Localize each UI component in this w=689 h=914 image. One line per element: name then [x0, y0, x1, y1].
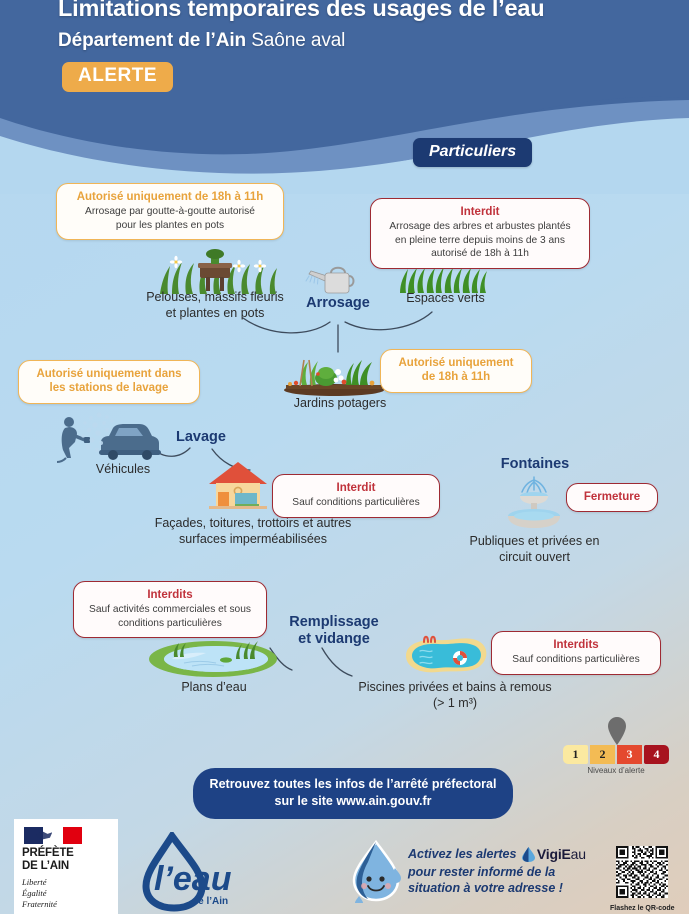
french-flag-icon	[24, 827, 82, 844]
page-subtitle: Département de l’Ain Saône aval	[58, 30, 689, 52]
leau-de-lain-logo: l’eau de l’Ain	[128, 832, 238, 914]
alert-level-1: 1	[563, 745, 588, 764]
infographic-page: Limitations temporaires des usages de l’…	[0, 0, 689, 914]
category-fontaines: Fontaines	[482, 456, 588, 473]
callout-body: Sauf conditions particulières	[285, 496, 427, 509]
info-banner-line2: sur le site www.ain.gouv.fr	[275, 794, 432, 808]
label-vehicules: Véhicules	[68, 461, 178, 477]
callout-piscines: Interdits Sauf conditions particulières	[491, 631, 661, 675]
vigieau-text: Activez les alertes VigiEau pour rester …	[408, 845, 586, 898]
vigieau-brand-bold: VigiE	[537, 846, 571, 862]
callout-title: Interdit	[383, 205, 577, 219]
eau-logo-main: l’eau	[154, 860, 232, 898]
page-title: Limitations temporaires des usages de l’…	[58, 0, 689, 21]
callout-vehicules: Autorisé uniquement dans les stations de…	[18, 360, 200, 404]
vigieau-brand: VigiEau	[520, 845, 586, 864]
category-arrosage: Arrosage	[288, 295, 388, 312]
audience-badge: Particuliers	[413, 138, 532, 167]
label-fontaines: Publiques et privées en circuit ouvert	[452, 533, 617, 565]
callout-arrosage-pots: Autorisé uniquement de 18h à 11h Arrosag…	[56, 183, 284, 240]
callout-title-line2: de 18h à 11h	[422, 371, 490, 383]
callout-body-line1: Arrosage des arbres et arbustes plantés	[389, 221, 570, 232]
vigieau-block: Activez les alertes VigiEau pour rester …	[348, 838, 586, 904]
eau-logo-sub: de l’Ain	[192, 896, 228, 907]
header-text-block: Limitations temporaires des usages de l’…	[0, 0, 689, 92]
callout-body-line2: en pleine terre depuis moins de 3 ans	[395, 235, 565, 246]
label-jardins-potagers: Jardins potagers	[280, 395, 400, 411]
callout-title-line2: les stations de lavage	[50, 382, 169, 394]
callout-facades: Interdit Sauf conditions particulières	[272, 474, 440, 518]
callout-title: Interdit	[285, 481, 427, 495]
water-drop-mascot-icon	[348, 838, 404, 904]
label-plans-eau: Plans d’eau	[155, 679, 273, 695]
department-label: Département de l’Ain	[58, 30, 246, 51]
vigieau-line2: pour rester informé de la	[408, 865, 555, 879]
swimming-pool-icon	[400, 632, 492, 683]
info-banner-line1: Retrouvez toutes les infos de l’arrêté p…	[210, 777, 497, 791]
alert-level-scale: 1 2 3 4 Niveaux d’alerte	[563, 745, 669, 775]
region-label: Saône aval	[251, 30, 345, 51]
alert-status-badge: ALERTE	[62, 62, 173, 92]
callout-body-line2: conditions particulières	[118, 618, 222, 629]
house-icon	[207, 460, 269, 517]
callout-title-line1: Autorisé uniquement	[398, 357, 513, 369]
callout-body-line1: Arrosage par goutte-à-goutte autorisé	[85, 206, 255, 217]
vigieau-drop-icon	[520, 846, 537, 863]
callout-body-line3: autorisé de 18h à 11h	[431, 248, 529, 259]
vigieau-line1: Activez les alertes	[408, 846, 516, 860]
label-espaces-verts: Espaces verts	[388, 290, 503, 306]
callout-body-line1: Sauf activités commerciales et sous	[89, 604, 251, 615]
category-remplissage: Remplissage et vidange	[272, 614, 396, 649]
alert-level-caption: Niveaux d’alerte	[563, 766, 669, 775]
callout-title: Interdits	[86, 588, 254, 602]
callout-arrosage-arbres: Interdit Arrosage des arbres et arbustes…	[370, 198, 590, 269]
info-banner[interactable]: Retrouvez toutes les infos de l’arrêté p…	[193, 768, 513, 819]
label-pelouses: Pelouses, massifs fleuris et plantes en …	[120, 289, 310, 321]
callout-title: Interdits	[504, 638, 648, 652]
callout-title-line1: Autorisé uniquement dans	[36, 368, 181, 380]
prefecture-name-line1: PRÉFÈTE	[22, 847, 74, 859]
republic-motto: Liberté Égalité Fraternité	[22, 877, 110, 909]
qr-caption: Flashez le QR-code	[610, 905, 675, 912]
footer: PRÉFÈTE DE L’AIN Liberté Égalité Fratern…	[0, 818, 689, 914]
alert-level-3: 3	[617, 745, 642, 764]
alert-level-pin-icon	[606, 716, 628, 746]
callout-title: Autorisé uniquement de 18h à 11h	[69, 190, 271, 204]
vegetable-garden-icon	[282, 352, 386, 401]
qr-code-icon[interactable]	[616, 846, 668, 898]
label-facades: Façades, toitures, trottoirs et autres s…	[118, 515, 388, 547]
vigieau-brand-light: au	[571, 846, 586, 862]
prefecture-name-line2: DE L’AIN	[22, 860, 69, 872]
callout-body: Sauf conditions particulières	[504, 653, 648, 666]
category-lavage: Lavage	[165, 429, 237, 446]
callout-title: Fermeture	[579, 490, 645, 504]
vigieau-line3: situation à votre adresse !	[408, 881, 563, 895]
callout-fontaines: Fermeture	[566, 483, 658, 512]
label-piscines: Piscines privées et bains à remous (> 1 …	[340, 679, 570, 711]
callout-body-line2: pour les plantes en pots	[116, 220, 224, 231]
qr-code-block[interactable]: Flashez le QR-code	[610, 846, 675, 912]
prefecture-logo: PRÉFÈTE DE L’AIN Liberté Égalité Fratern…	[14, 819, 118, 914]
callout-potagers: Autorisé uniquement de 18h à 11h	[380, 349, 532, 393]
callout-plans-eau: Interdits Sauf activités commerciales et…	[73, 581, 267, 638]
fountain-icon	[500, 474, 568, 535]
alert-level-2: 2	[590, 745, 615, 764]
pond-icon	[148, 635, 278, 684]
alert-level-4: 4	[644, 745, 669, 764]
